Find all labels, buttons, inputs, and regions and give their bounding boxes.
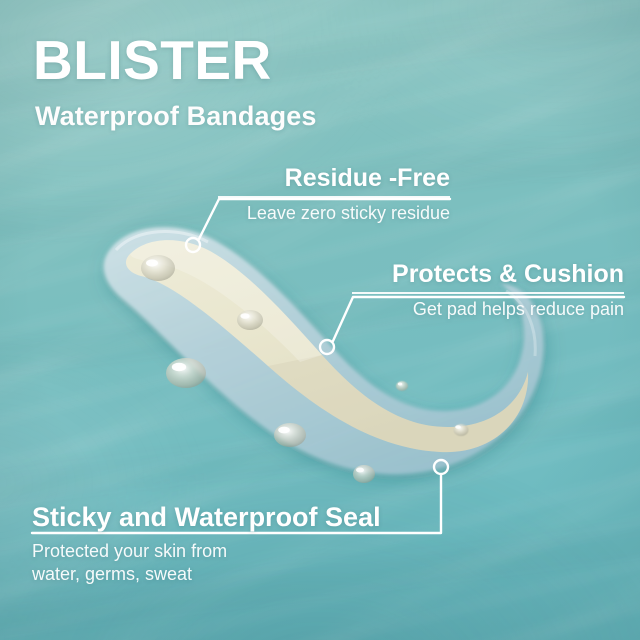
callout-residue-heading: Residue -Free xyxy=(218,164,450,193)
callout-residue-free: Residue -Free Leave zero sticky residue xyxy=(218,164,450,225)
callout-protects-rule xyxy=(352,292,624,294)
callout-seal-heading: Sticky and Waterproof Seal xyxy=(32,502,442,533)
page-title: BLISTER xyxy=(33,33,272,88)
callout-residue-rule xyxy=(218,196,450,198)
callout-residue-body: Leave zero sticky residue xyxy=(218,202,450,225)
callout-protects-heading: Protects & Cushion xyxy=(352,260,624,289)
callout-sticky-waterproof-seal: Sticky and Waterproof Seal Protected you… xyxy=(32,502,442,586)
callout-protects-cushion: Protects & Cushion Get pad helps reduce … xyxy=(352,260,624,321)
product-marketing-image: BLISTER Waterproof Bandages Residue -Fre… xyxy=(0,0,640,640)
callout-protects-body: Get pad helps reduce pain xyxy=(352,298,624,321)
page-subtitle: Waterproof Bandages xyxy=(35,100,316,132)
callout-seal-body: Protected your skin from water, germs, s… xyxy=(32,540,442,586)
